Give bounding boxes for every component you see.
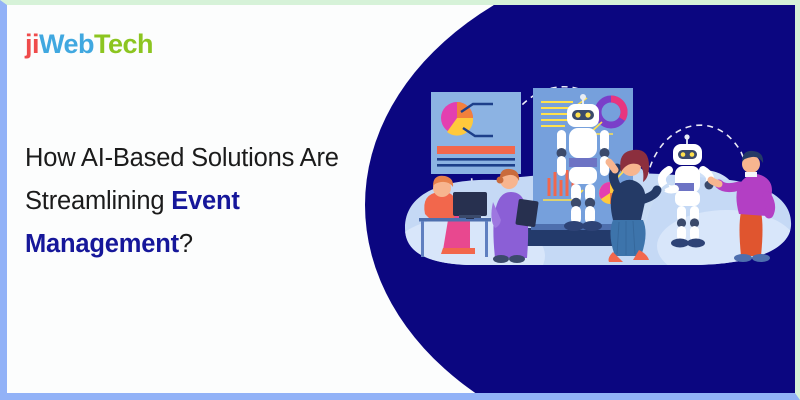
headline-line-1: How AI-Based Solutions — [25, 144, 294, 172]
headline-emphasis-event: Event — [171, 187, 239, 215]
blog-banner: jiWebTech How AI-Based Solutions Are Str… — [0, 0, 800, 400]
logo-part-web: Web — [39, 29, 94, 59]
headline-question-mark: ? — [179, 230, 193, 258]
page-title: How AI-Based Solutions Are Streamlining … — [25, 137, 355, 266]
illustration-svg — [397, 60, 797, 290]
ai-event-management-illustration — [397, 60, 797, 290]
analytics-board — [431, 92, 521, 174]
logo-part-tech: Tech — [94, 29, 153, 59]
jiwebtech-logo[interactable]: jiWebTech — [25, 29, 153, 60]
logo-part-ji: ji — [25, 29, 39, 59]
headline-emphasis-management: Management — [25, 230, 179, 258]
